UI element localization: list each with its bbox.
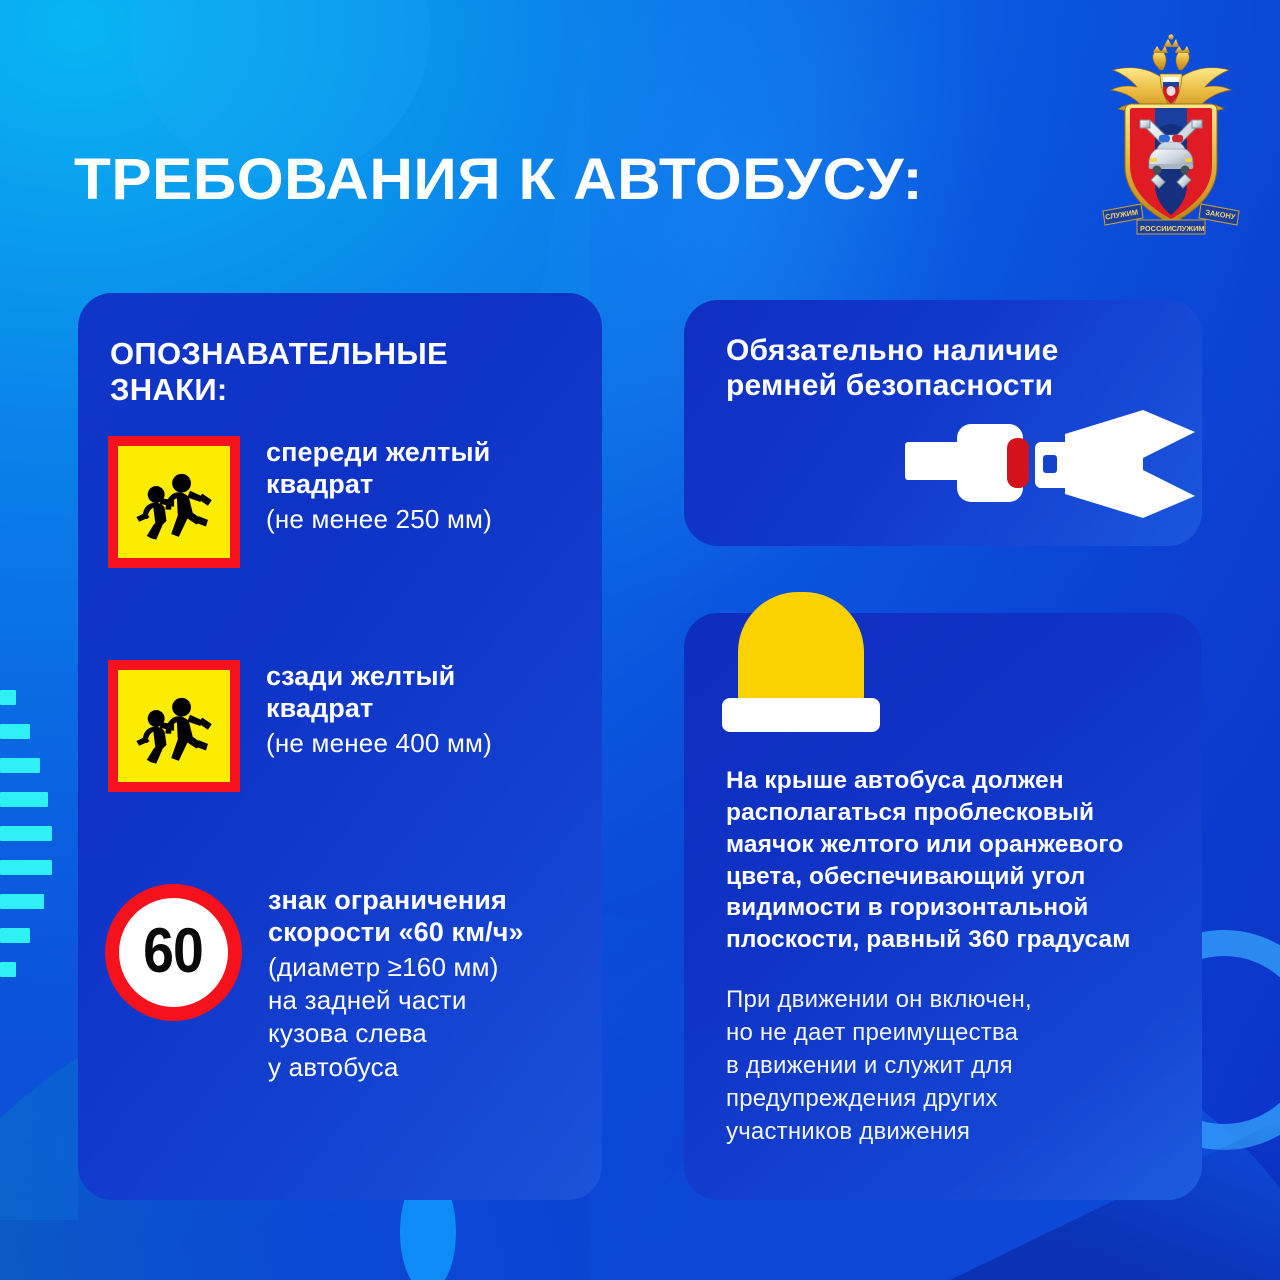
seatbelt-buckle-icon <box>905 410 1195 520</box>
list-item-subtitle: (диаметр ≥160 мм) на задней части кузова… <box>268 951 524 1084</box>
emblem-ribbon-center-right: СЛУЖИМ <box>1171 224 1204 233</box>
infographic-poster: СЛУЖИМ ЗАКОНУ РОССИИ СЛУЖИМ ТРЕБОВАНИЯ К… <box>0 0 1280 1280</box>
list-item-subtitle: (не менее 400 мм) <box>266 727 492 760</box>
left-card-heading: ОПОЗНАВАТЕЛЬНЫЕ ЗНАКИ: <box>110 336 448 408</box>
list-item-title: знак ограничения скорости «60 км/ч» <box>268 884 524 949</box>
page-title: ТРЕБОВАНИЯ К АВТОБУСУ: <box>74 150 923 211</box>
seatbelt-card-heading: Обязательно наличие ремней безопасности <box>726 334 1058 404</box>
beacon-card-note: При движении он включен, но не дает преи… <box>726 983 1196 1149</box>
list-item-title: сзади желтый квадрат <box>266 660 492 725</box>
list-item-subtitle: (не менее 250 мм) <box>266 503 492 536</box>
emblem-ribbon-center-left: РОССИИ <box>1140 224 1172 233</box>
list-item: 60 знак ограничения скорости «60 км/ч» (… <box>105 884 524 1084</box>
mvd-emblem-icon: СЛУЖИМ ЗАКОНУ РОССИИ СЛУЖИМ <box>1097 34 1245 242</box>
list-item-title: спереди желтый квадрат <box>266 436 492 501</box>
list-item: спереди желтый квадрат (не менее 250 мм) <box>108 436 492 568</box>
list-item: сзади желтый квадрат (не менее 400 мм) <box>108 660 492 792</box>
children-crossing-sign-icon <box>108 660 240 792</box>
children-crossing-sign-icon <box>108 436 240 568</box>
beacon-card-body: На крыше автобуса должен располагаться п… <box>726 765 1196 956</box>
speed-limit-60-sign-icon: 60 <box>105 884 242 1021</box>
speed-limit-value: 60 <box>144 920 204 983</box>
beacon-light-icon <box>722 592 880 732</box>
background-cyan-stripes <box>0 690 58 990</box>
